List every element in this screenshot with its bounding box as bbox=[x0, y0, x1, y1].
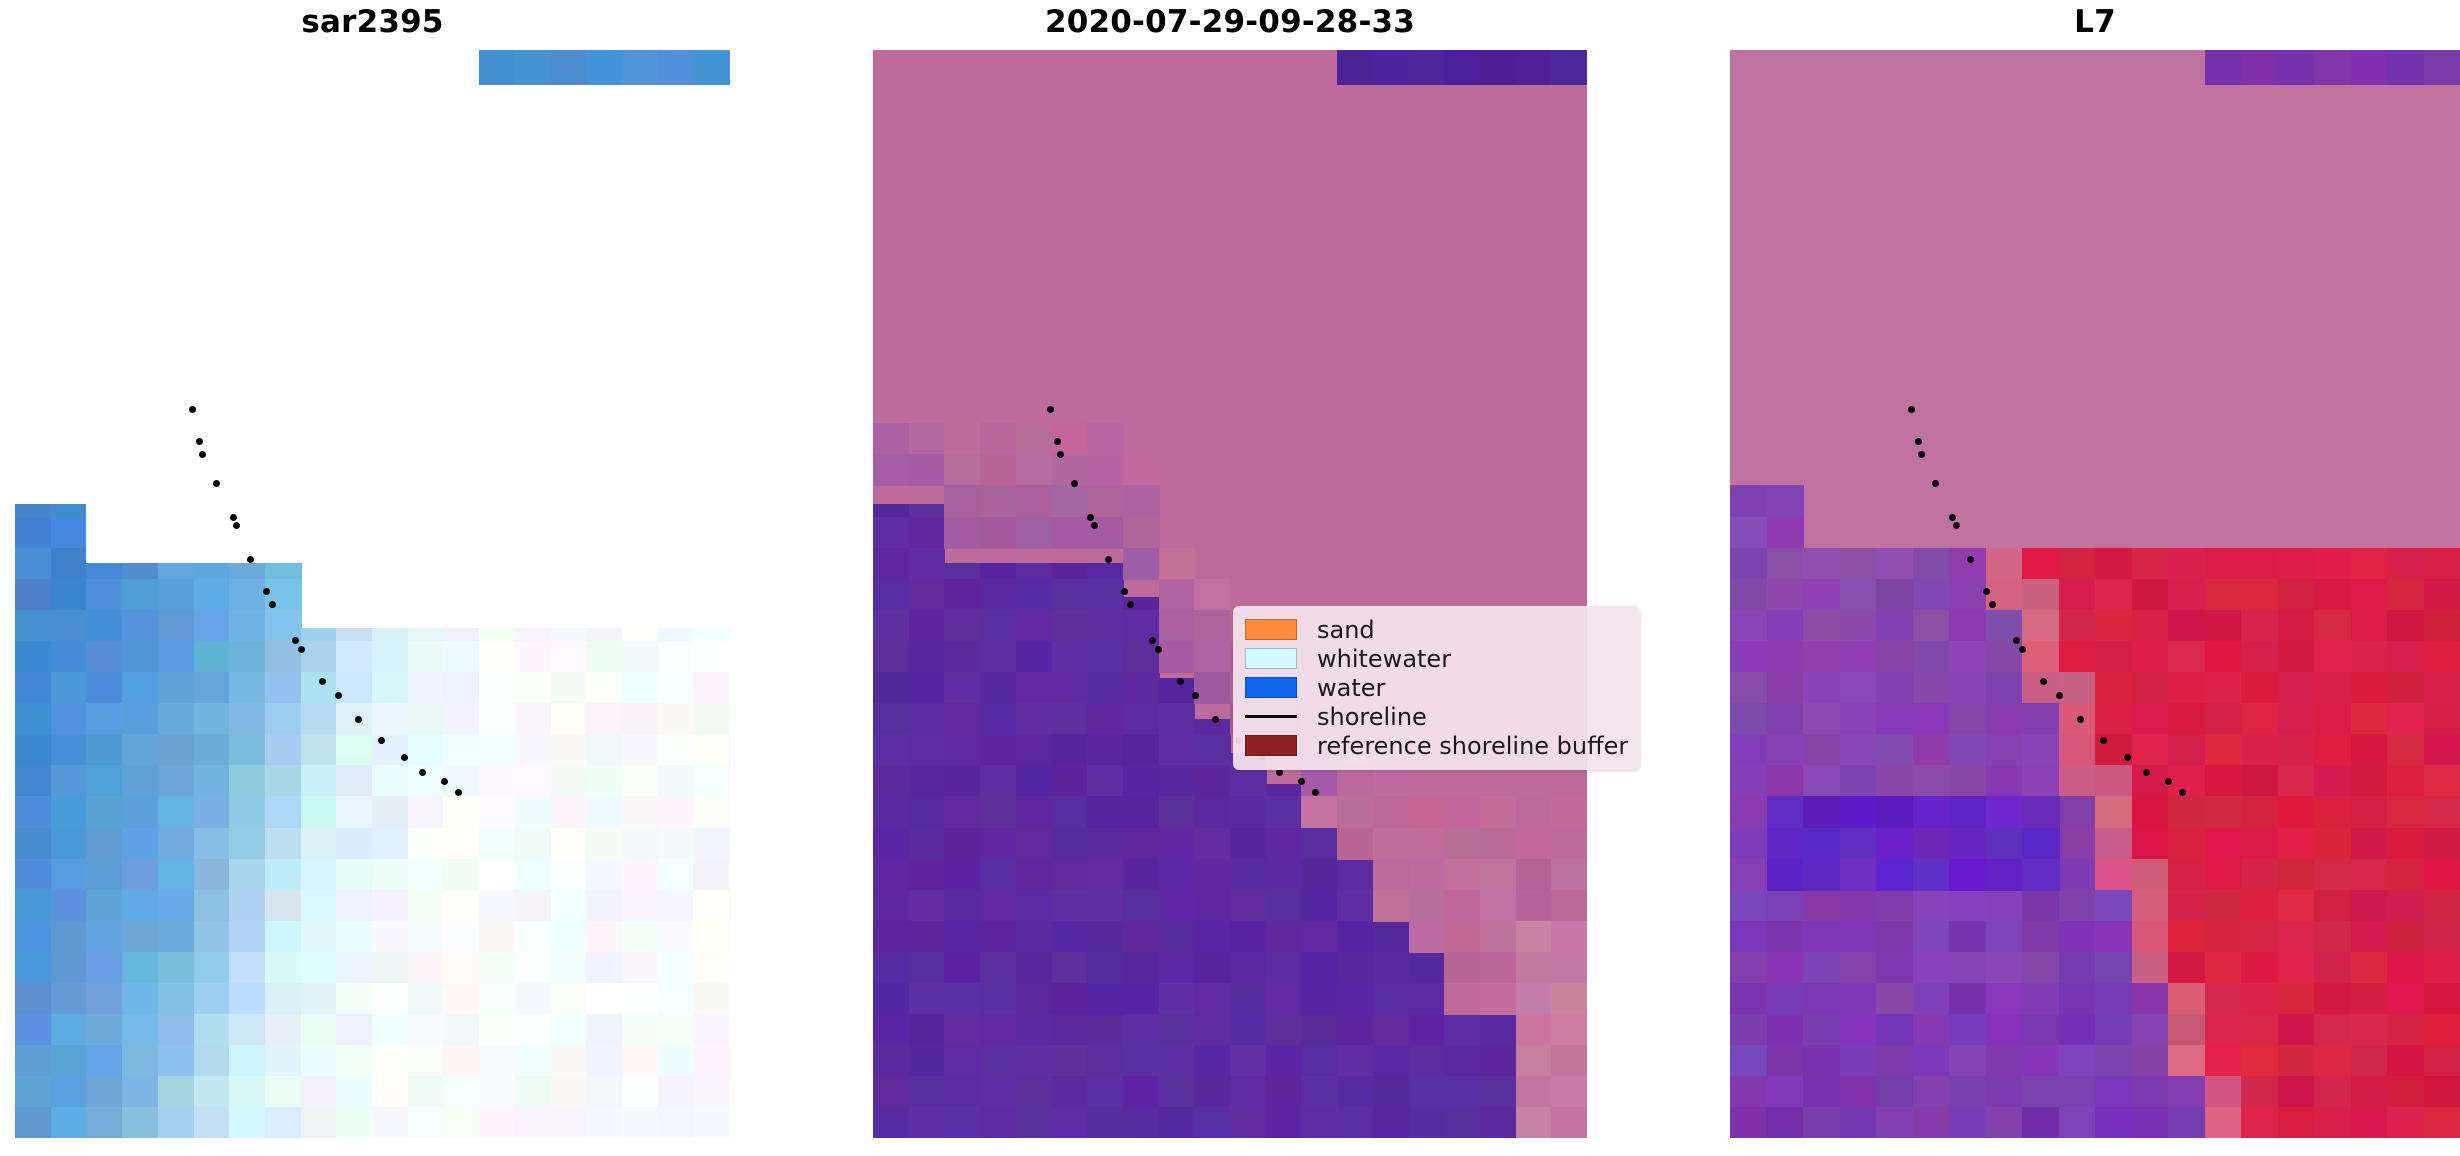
raster-cell bbox=[2205, 921, 2243, 953]
raster-cell bbox=[658, 952, 695, 984]
raster-cell bbox=[2022, 1076, 2060, 1108]
raster-cell bbox=[515, 796, 552, 828]
panel-l7: L7 bbox=[1730, 0, 2460, 1156]
raster-cell bbox=[1337, 890, 1374, 922]
raster-cell bbox=[1052, 1014, 1089, 1046]
raster-cell bbox=[158, 1076, 195, 1108]
raster-cell bbox=[2387, 1076, 2425, 1108]
raster-cell bbox=[1230, 1014, 1267, 1046]
raster-cell bbox=[1016, 952, 1053, 984]
raster-cell bbox=[336, 1045, 373, 1077]
raster-cell bbox=[336, 952, 373, 984]
raster-cell bbox=[1480, 828, 1517, 860]
shoreline-point bbox=[292, 637, 299, 644]
axes-optical[interactable] bbox=[873, 50, 1587, 1138]
raster-cell bbox=[1551, 1076, 1587, 1108]
raster-cell bbox=[1337, 1107, 1374, 1138]
raster-cell bbox=[2168, 765, 2206, 797]
raster-cell bbox=[944, 517, 981, 549]
raster-cell bbox=[1159, 579, 1196, 611]
shoreline-point bbox=[2019, 646, 2026, 653]
raster-cell bbox=[1803, 828, 1841, 860]
raster-cell bbox=[2205, 1014, 2243, 1046]
shoreline-point bbox=[2179, 789, 2186, 796]
raster-cell bbox=[443, 1045, 480, 1077]
raster-cell bbox=[2351, 610, 2389, 642]
raster-cell bbox=[622, 85, 659, 628]
raster-cell bbox=[1516, 50, 1553, 85]
raster-cell bbox=[2424, 765, 2460, 797]
legend-item-shoreline: shoreline bbox=[1245, 702, 1628, 731]
raster-cell bbox=[1087, 796, 1124, 828]
raster-cell bbox=[158, 828, 195, 860]
raster-cell bbox=[693, 85, 730, 628]
raster-cell bbox=[2205, 548, 2243, 580]
raster-cell bbox=[658, 672, 695, 704]
raster-cell bbox=[944, 641, 981, 673]
raster-cell bbox=[2022, 921, 2060, 953]
raster-cell bbox=[1230, 796, 1267, 828]
raster-cell bbox=[479, 921, 516, 953]
raster-cell bbox=[1230, 890, 1267, 922]
raster-cell bbox=[2387, 983, 2425, 1015]
raster-cell bbox=[2424, 734, 2460, 766]
raster-cell bbox=[229, 796, 266, 828]
raster-cell bbox=[1123, 1107, 1160, 1138]
raster-cell bbox=[194, 859, 231, 891]
raster-cell bbox=[729, 1014, 730, 1046]
raster-cell bbox=[158, 859, 195, 891]
raster-cell bbox=[1913, 1045, 1951, 1077]
raster-cell bbox=[301, 859, 338, 891]
raster-cell bbox=[2022, 1045, 2060, 1077]
raster-cell bbox=[51, 703, 88, 735]
raster-cell bbox=[1767, 703, 1805, 735]
raster-cell bbox=[443, 1014, 480, 1046]
raster-cell bbox=[2205, 1107, 2243, 1138]
raster-cell bbox=[909, 1107, 946, 1138]
raster-cell bbox=[586, 983, 623, 1015]
raster-cell bbox=[443, 703, 480, 735]
raster-cell bbox=[229, 641, 266, 673]
raster-cell bbox=[479, 1014, 516, 1046]
raster-cell bbox=[479, 50, 516, 85]
raster-cell bbox=[372, 921, 409, 953]
raster-cell bbox=[194, 952, 231, 984]
raster-cell bbox=[658, 1076, 695, 1108]
raster-cell bbox=[15, 890, 52, 922]
raster-cell bbox=[2022, 641, 2060, 673]
raster-cell bbox=[658, 890, 695, 922]
raster-cell bbox=[515, 1107, 552, 1138]
axes-sar2395[interactable] bbox=[15, 50, 730, 1138]
raster-cell bbox=[86, 796, 123, 828]
raster-cell bbox=[336, 796, 373, 828]
raster-cell bbox=[2095, 890, 2133, 922]
raster-cell bbox=[122, 765, 159, 797]
raster-cell bbox=[15, 796, 52, 828]
raster-cell bbox=[729, 1107, 730, 1138]
raster-cell bbox=[980, 765, 1017, 797]
raster-cell bbox=[15, 641, 52, 673]
raster-cell bbox=[1480, 859, 1517, 891]
shoreline-point bbox=[2077, 716, 2084, 723]
raster-cell bbox=[2351, 890, 2389, 922]
raster-cell bbox=[122, 1014, 159, 1046]
raster-cell bbox=[2314, 703, 2352, 735]
raster-cell bbox=[1373, 921, 1410, 953]
raster-cell bbox=[1087, 765, 1124, 797]
raster-cell bbox=[2351, 921, 2389, 953]
raster-cell bbox=[1230, 859, 1267, 891]
raster-cell bbox=[2095, 952, 2133, 984]
raster-cell bbox=[1230, 1076, 1267, 1108]
raster-cell bbox=[1913, 548, 1951, 580]
raster-cell bbox=[1087, 921, 1124, 953]
raster-cell bbox=[2314, 828, 2352, 860]
raster-cell bbox=[1840, 579, 1878, 611]
raster-cell bbox=[515, 641, 552, 673]
raster-cell bbox=[443, 828, 480, 860]
raster-cell bbox=[1949, 1045, 1987, 1077]
raster-cell bbox=[2241, 765, 2279, 797]
raster-cell bbox=[2424, 890, 2460, 922]
raster-cell bbox=[301, 1107, 338, 1138]
raster-cell bbox=[1087, 952, 1124, 984]
raster-cell bbox=[944, 921, 981, 953]
raster-cell bbox=[2132, 796, 2170, 828]
raster-cell bbox=[2387, 828, 2425, 860]
raster-cell bbox=[873, 1107, 910, 1138]
raster-cell bbox=[1052, 454, 1089, 486]
raster-cell bbox=[1986, 734, 2024, 766]
raster-cell bbox=[1949, 703, 1987, 735]
raster-cell bbox=[1159, 641, 1196, 673]
raster-cell bbox=[1409, 1107, 1446, 1138]
raster-cell bbox=[1986, 859, 2024, 891]
raster-cell bbox=[265, 1107, 302, 1138]
raster-cell bbox=[15, 828, 52, 860]
raster-cell bbox=[1913, 1014, 1951, 1046]
raster-cell bbox=[86, 85, 123, 563]
raster-cell bbox=[693, 1076, 730, 1108]
raster-cell bbox=[2314, 579, 2352, 611]
raster-cell bbox=[622, 921, 659, 953]
raster-cell bbox=[693, 890, 730, 922]
raster-cell bbox=[301, 828, 338, 860]
raster-cell bbox=[2168, 983, 2206, 1015]
raster-cell bbox=[729, 703, 730, 735]
raster-cell bbox=[1551, 890, 1587, 922]
raster-cell bbox=[51, 85, 88, 504]
raster-cell bbox=[1767, 952, 1805, 984]
raster-cell bbox=[336, 765, 373, 797]
raster-cell bbox=[2241, 579, 2279, 611]
figure-canvas: sar2395 2020-07-29-09-28-33 L7 sandwhite… bbox=[0, 0, 2460, 1156]
raster-cell bbox=[2424, 983, 2460, 1015]
raster-cell bbox=[1876, 796, 1914, 828]
shoreline-point bbox=[213, 480, 220, 487]
raster-cell bbox=[158, 1107, 195, 1138]
raster-cell bbox=[693, 828, 730, 860]
raster-cell bbox=[2351, 1107, 2389, 1138]
raster-cell bbox=[1123, 548, 1160, 580]
raster-cell bbox=[1409, 796, 1446, 828]
raster-cell bbox=[586, 628, 623, 641]
raster-cell bbox=[408, 983, 445, 1015]
raster-cell bbox=[1913, 579, 1951, 611]
raster-cell bbox=[2424, 579, 2460, 611]
raster-cell bbox=[479, 734, 516, 766]
raster-cell bbox=[1949, 1107, 1987, 1138]
raster-cell bbox=[1803, 859, 1841, 891]
shoreline-point bbox=[230, 514, 237, 521]
raster-cell bbox=[2022, 890, 2060, 922]
raster-cell bbox=[2241, 983, 2279, 1015]
raster-cell bbox=[1516, 859, 1553, 891]
raster-cell bbox=[2095, 796, 2133, 828]
raster-cell bbox=[1913, 828, 1951, 860]
raster-cell bbox=[1876, 1014, 1914, 1046]
raster-cell bbox=[1301, 828, 1338, 860]
raster-cell bbox=[301, 890, 338, 922]
raster-cell bbox=[1301, 796, 1338, 828]
raster-cell bbox=[86, 828, 123, 860]
raster-cell bbox=[1949, 859, 1987, 891]
raster-cell bbox=[1913, 983, 1951, 1015]
raster-cell bbox=[1551, 50, 1587, 85]
raster-cell bbox=[15, 765, 52, 797]
raster-cell bbox=[515, 85, 552, 628]
raster-cell bbox=[1052, 828, 1089, 860]
shoreline-point bbox=[335, 692, 342, 699]
raster-cell bbox=[909, 1076, 946, 1108]
raster-cell bbox=[980, 641, 1017, 673]
raster-cell bbox=[301, 1045, 338, 1077]
raster-cell bbox=[729, 890, 730, 922]
raster-cell bbox=[2351, 50, 2389, 85]
axes-l7[interactable] bbox=[1730, 50, 2460, 1138]
raster-cell bbox=[1876, 952, 1914, 984]
raster-cell bbox=[693, 952, 730, 984]
raster-cell bbox=[873, 423, 910, 455]
raster-cell bbox=[2387, 952, 2425, 984]
raster-cell bbox=[622, 1014, 659, 1046]
raster-cell bbox=[1301, 1107, 1338, 1138]
raster-cell bbox=[2022, 703, 2060, 735]
raster-cell bbox=[980, 1076, 1017, 1108]
raster-cell bbox=[1159, 796, 1196, 828]
raster-cell bbox=[15, 610, 52, 642]
raster-cell bbox=[1052, 610, 1089, 642]
raster-cell bbox=[229, 952, 266, 984]
raster-cell bbox=[86, 859, 123, 891]
shoreline-point bbox=[1298, 778, 1305, 785]
raster-cell bbox=[1052, 765, 1089, 797]
raster-cell bbox=[1986, 641, 2024, 673]
raster-cell bbox=[1016, 828, 1053, 860]
raster-cell bbox=[1087, 859, 1124, 891]
raster-cell bbox=[1913, 734, 1951, 766]
raster-cell bbox=[1840, 1014, 1878, 1046]
raster-cell bbox=[586, 50, 623, 85]
raster-cell bbox=[658, 628, 695, 641]
raster-cell bbox=[1194, 952, 1231, 984]
shoreline-point bbox=[1177, 678, 1184, 685]
raster-cell bbox=[729, 828, 730, 860]
raster-cell bbox=[1016, 1045, 1053, 1077]
raster-cell bbox=[229, 1107, 266, 1138]
raster-cell bbox=[551, 1045, 588, 1077]
raster-cell bbox=[2059, 579, 2097, 611]
shoreline-point bbox=[1932, 480, 1939, 487]
raster-cell bbox=[336, 1107, 373, 1138]
raster-cell bbox=[122, 921, 159, 953]
raster-cell bbox=[693, 1045, 730, 1077]
raster-cell bbox=[1840, 672, 1878, 704]
raster-cell bbox=[1949, 890, 1987, 922]
raster-cell bbox=[479, 703, 516, 735]
raster-cell bbox=[229, 85, 266, 563]
raster-cell bbox=[2132, 1076, 2170, 1108]
raster-cell bbox=[1444, 796, 1481, 828]
raster-cell bbox=[909, 983, 946, 1015]
raster-cell bbox=[2351, 765, 2389, 797]
raster-cell bbox=[372, 828, 409, 860]
raster-cell bbox=[1373, 796, 1410, 828]
raster-cell bbox=[1016, 1107, 1053, 1138]
raster-cell bbox=[873, 504, 910, 517]
raster-cell bbox=[408, 85, 445, 563]
raster-cell bbox=[1016, 890, 1053, 922]
raster-cell bbox=[944, 1107, 981, 1138]
raster-cell bbox=[1803, 548, 1841, 580]
raster-cell bbox=[265, 890, 302, 922]
raster-cell bbox=[51, 517, 88, 549]
raster-cell bbox=[586, 1107, 623, 1138]
raster-cell bbox=[194, 921, 231, 953]
raster-cell bbox=[2205, 610, 2243, 642]
raster-cell bbox=[1194, 672, 1231, 704]
raster-cell bbox=[1373, 50, 1410, 85]
raster-cell bbox=[1730, 703, 1768, 735]
raster-cell bbox=[2278, 548, 2316, 580]
raster-cell bbox=[122, 796, 159, 828]
raster-cell bbox=[1087, 734, 1124, 766]
raster-cell bbox=[301, 672, 338, 704]
raster-cell bbox=[336, 628, 373, 641]
raster-cell bbox=[1194, 734, 1231, 766]
raster-cell bbox=[2132, 1014, 2170, 1046]
raster-cell bbox=[1194, 1014, 1231, 1046]
raster-cell bbox=[586, 672, 623, 704]
raster-cell bbox=[1767, 1107, 1805, 1138]
raster-cell bbox=[2059, 796, 2097, 828]
shoreline-point bbox=[441, 778, 448, 785]
raster-cell bbox=[443, 921, 480, 953]
raster-cell bbox=[194, 1014, 231, 1046]
raster-cell bbox=[2059, 952, 2097, 984]
raster-cell bbox=[408, 641, 445, 673]
raster-cell bbox=[1551, 828, 1587, 860]
raster-cell bbox=[909, 641, 946, 673]
raster-cell bbox=[909, 765, 946, 797]
raster-cell bbox=[944, 485, 981, 517]
raster-cell bbox=[2278, 859, 2316, 891]
raster-cell bbox=[1123, 859, 1160, 891]
raster-cell bbox=[980, 485, 1017, 517]
raster-cell bbox=[15, 952, 52, 984]
raster-cell bbox=[372, 1076, 409, 1108]
raster-cell bbox=[479, 859, 516, 891]
raster-cell bbox=[15, 983, 52, 1015]
raster-cell bbox=[1986, 672, 2024, 704]
shoreline-point bbox=[1091, 522, 1098, 529]
legend-swatch-icon bbox=[1245, 648, 1297, 669]
raster-cell bbox=[2132, 1045, 2170, 1077]
raster-cell bbox=[122, 85, 159, 563]
raster-cell bbox=[1194, 641, 1231, 673]
raster-cell bbox=[1986, 548, 2024, 580]
raster-cell bbox=[479, 796, 516, 828]
raster-cell bbox=[586, 765, 623, 797]
raster-cell bbox=[909, 610, 946, 642]
raster-cell bbox=[122, 703, 159, 735]
raster-cell bbox=[158, 563, 195, 580]
raster-cell bbox=[2095, 983, 2133, 1015]
raster-cell bbox=[622, 828, 659, 860]
raster-cell bbox=[194, 85, 231, 563]
raster-cell bbox=[1840, 796, 1878, 828]
raster-cell bbox=[1949, 672, 1987, 704]
raster-cell bbox=[1986, 703, 2024, 735]
raster-cell bbox=[980, 828, 1017, 860]
raster-cell bbox=[1052, 952, 1089, 984]
raster-cell bbox=[1409, 828, 1446, 860]
raster-cell bbox=[909, 859, 946, 891]
raster-cell bbox=[1444, 859, 1481, 891]
raster-cell bbox=[693, 50, 730, 85]
raster-cell bbox=[301, 1014, 338, 1046]
raster-cell bbox=[15, 734, 52, 766]
raster-cell bbox=[1949, 734, 1987, 766]
raster-cell bbox=[1444, 1045, 1481, 1077]
raster-cell bbox=[693, 765, 730, 797]
raster-cell bbox=[1803, 734, 1841, 766]
raster-cell bbox=[1373, 859, 1410, 891]
raster-cell bbox=[122, 952, 159, 984]
raster-cell bbox=[551, 921, 588, 953]
raster-cell bbox=[1230, 828, 1267, 860]
raster-cell bbox=[443, 641, 480, 673]
raster-cell bbox=[2059, 859, 2097, 891]
raster-cell bbox=[693, 703, 730, 735]
raster-cell bbox=[1949, 1076, 1987, 1108]
raster-cell bbox=[1516, 921, 1553, 953]
raster-cell bbox=[479, 641, 516, 673]
raster-cell bbox=[1052, 890, 1089, 922]
raster-cell bbox=[1444, 828, 1481, 860]
raster-cell bbox=[1337, 859, 1374, 891]
raster-cell bbox=[86, 1014, 123, 1046]
raster-cell bbox=[2278, 952, 2316, 984]
raster-cell bbox=[229, 563, 266, 580]
raster-cell bbox=[1876, 672, 1914, 704]
raster-cell bbox=[1913, 796, 1951, 828]
raster-cell bbox=[1409, 983, 1446, 1015]
raster-cell bbox=[194, 610, 231, 642]
raster-cell bbox=[1480, 50, 1517, 85]
